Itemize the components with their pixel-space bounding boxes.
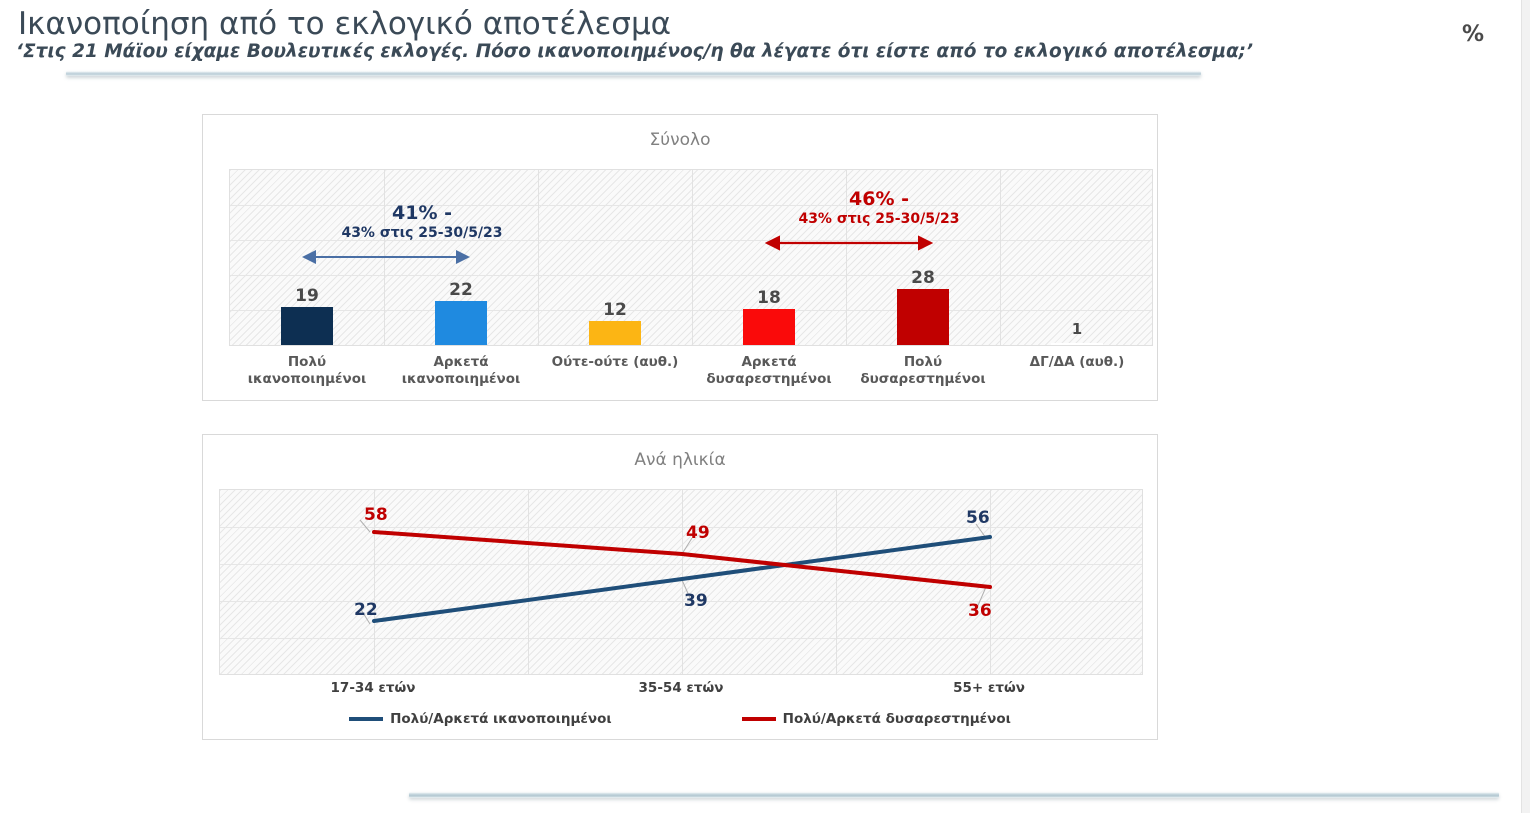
bar-very-satisfied xyxy=(281,307,333,345)
bar-neither xyxy=(589,321,641,345)
gridline-h xyxy=(230,275,1152,276)
bar-value-very-satisfied: 19 xyxy=(281,286,333,306)
legend-item-satisfied: Πολύ/Αρκετά ικανοποιημένοι xyxy=(349,711,612,727)
bar-value-dk-na: 1 xyxy=(1051,320,1103,338)
category-label-line1: Πολύ xyxy=(846,354,1000,371)
bar-quite-dissatisfied xyxy=(743,309,795,345)
category-label-line2: ικανοποιημένοι xyxy=(230,371,384,388)
legend-swatch-satisfied xyxy=(349,717,383,721)
line-value-dissatisfied-17-34: 58 xyxy=(364,505,388,525)
bar-very-dissatisfied xyxy=(897,289,949,345)
category-label-very-satisfied: Πολύ ικανοποιημένοι xyxy=(230,354,384,388)
line-value-satisfied-35-54: 39 xyxy=(684,591,708,611)
line-value-dissatisfied-35-54: 49 xyxy=(686,523,710,543)
legend-item-dissatisfied: Πολύ/Αρκετά δυσαρεστημένοι xyxy=(742,711,1011,727)
plot-area-age: 58 49 36 22 39 56 xyxy=(219,489,1143,675)
plot-area-total: 19 22 12 18 28 1 41% - 43% στις 25-30/5/… xyxy=(229,169,1153,346)
gridline-v xyxy=(1000,170,1001,345)
bar-value-very-dissatisfied: 28 xyxy=(897,268,949,288)
page-title: Ικανοποίηση από το εκλογικό αποτέλεσμα xyxy=(18,6,671,42)
category-label-line2: ικανοποιημένοι xyxy=(384,371,538,388)
legend-swatch-dissatisfied xyxy=(742,717,776,721)
line-value-dissatisfied-55plus: 36 xyxy=(968,601,992,621)
annotation-satisfied: 41% - 43% στις 25-30/5/23 xyxy=(302,202,542,243)
line-value-satisfied-17-34: 22 xyxy=(354,600,378,620)
annotation-satisfied-arrow xyxy=(296,249,476,265)
legend-label-satisfied: Πολύ/Αρκετά ικανοποιημένοι xyxy=(390,711,612,727)
category-label-quite-satisfied: Αρκετά ικανοποιημένοι xyxy=(384,354,538,388)
category-label-line1: Αρκετά xyxy=(692,354,846,371)
bar-value-quite-dissatisfied: 18 xyxy=(743,288,795,308)
category-label-neither: Ούτε-ούτε (αυθ.) xyxy=(538,354,692,371)
age-label-35-54: 35-54 ετών xyxy=(604,680,758,696)
chart-title-total: Σύνολο xyxy=(203,130,1157,150)
annotation-dissatisfied-line1: 46% - xyxy=(759,188,999,210)
slide-header: Ικανοποίηση από το εκλογικό αποτέλεσμα ‘… xyxy=(0,0,1530,92)
chart-legend-age: Πολύ/Αρκετά ικανοποιημένοι Πολύ/Αρκετά δ… xyxy=(203,711,1157,727)
category-label-line1: ΔΓ/ΔΑ (αυθ.) xyxy=(1000,354,1154,371)
category-label-line1: Ούτε-ούτε (αυθ.) xyxy=(538,354,692,371)
gridline-v xyxy=(692,170,693,345)
chart-panel-age: Ανά ηλικία 58 49 36 22 xyxy=(202,434,1158,740)
line-value-satisfied-55plus: 56 xyxy=(966,508,990,528)
age-label-17-34: 17-34 ετών xyxy=(296,680,450,696)
bar-value-quite-satisfied: 22 xyxy=(435,280,487,300)
page-subtitle: ‘Στις 21 Μάϊου είχαμε Βουλευτικές εκλογέ… xyxy=(16,41,1253,62)
annotation-dissatisfied: 46% - 43% στις 25-30/5/23 xyxy=(759,188,999,229)
category-label-quite-dissatisfied: Αρκετά δυσαρεστημένοι xyxy=(692,354,846,388)
annotation-satisfied-line2: 43% στις 25-30/5/23 xyxy=(302,224,542,243)
header-divider xyxy=(66,71,1201,76)
gridline-v xyxy=(538,170,539,345)
category-label-line1: Πολύ xyxy=(230,354,384,371)
legend-label-dissatisfied: Πολύ/Αρκετά δυσαρεστημένοι xyxy=(783,711,1011,727)
footer-divider xyxy=(409,792,1499,798)
annotation-dissatisfied-arrow xyxy=(759,235,939,251)
category-label-line1: Αρκετά xyxy=(384,354,538,371)
line-series-svg xyxy=(220,490,1144,676)
annotation-dissatisfied-line2: 43% στις 25-30/5/23 xyxy=(759,210,999,229)
age-label-55plus: 55+ ετών xyxy=(912,680,1066,696)
chart-panel-total: Σύνολο 19 22 12 18 28 1 41% - 43% στις 2… xyxy=(202,114,1158,401)
bar-quite-satisfied xyxy=(435,301,487,345)
category-label-very-dissatisfied: Πολύ δυσαρεστημένοι xyxy=(846,354,1000,388)
category-label-line2: δυσαρεστημένοι xyxy=(692,371,846,388)
annotation-satisfied-line1: 41% - xyxy=(302,202,542,224)
chart-title-age: Ανά ηλικία xyxy=(203,450,1157,470)
bar-value-neither: 12 xyxy=(589,300,641,320)
right-edge-strip xyxy=(1521,0,1530,813)
category-label-line2: δυσαρεστημένοι xyxy=(846,371,1000,388)
gridline-h xyxy=(230,310,1152,311)
bar-dk-na xyxy=(1051,343,1103,345)
percent-unit-label: % xyxy=(1462,22,1484,47)
category-label-dk-na: ΔΓ/ΔΑ (αυθ.) xyxy=(1000,354,1154,371)
